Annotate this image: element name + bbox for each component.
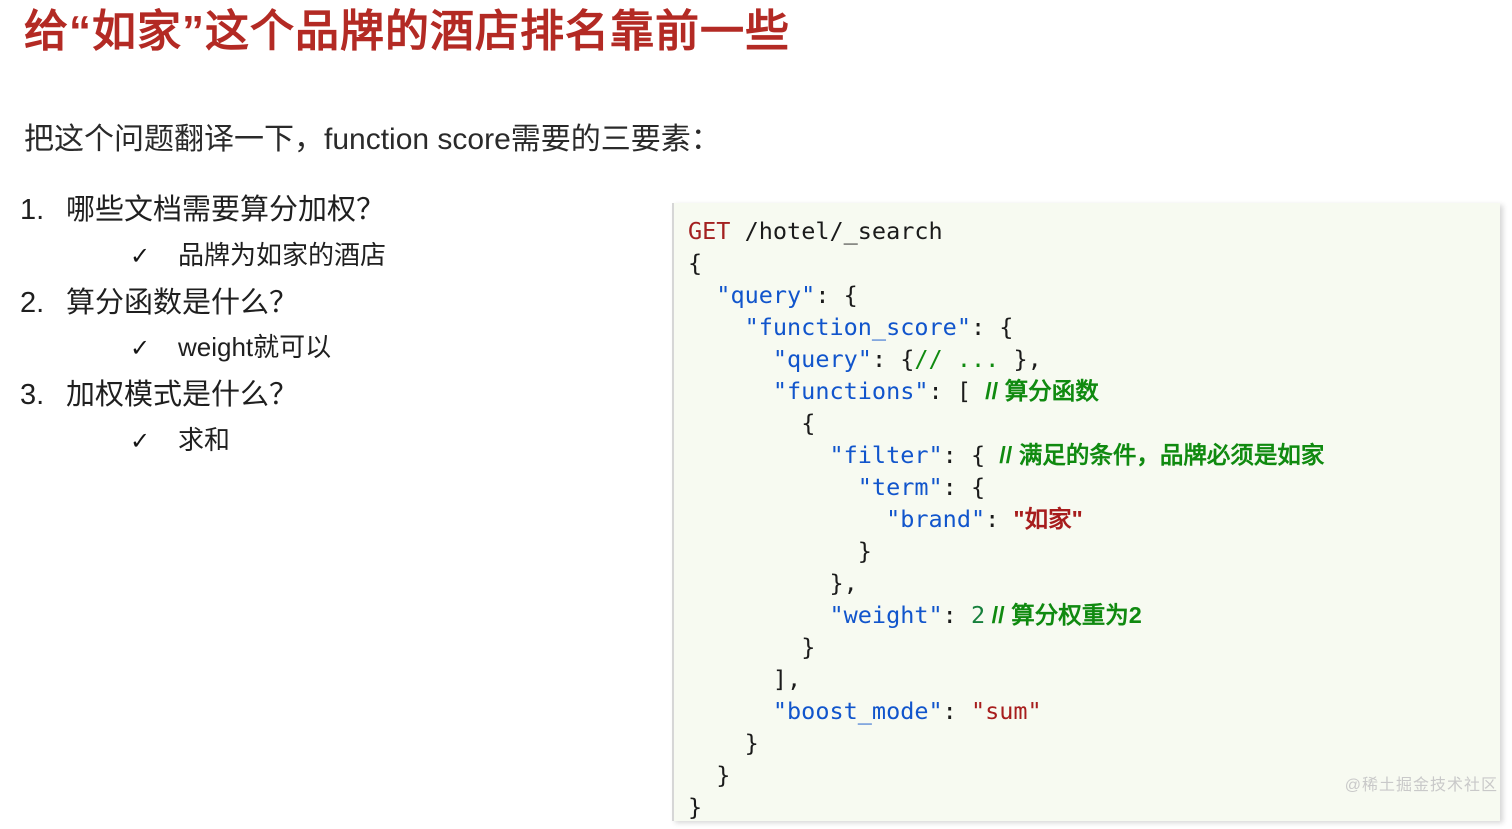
page-title: 给“如家”这个品牌的酒店排名靠前一些 [24, 4, 790, 60]
code-line: "functions": [ // 算分函数 [688, 375, 1500, 407]
code-token-indent [688, 281, 716, 309]
list-number: 1. [20, 188, 66, 233]
code-token-indent [688, 665, 773, 693]
code-token-comment: // ... [914, 345, 1013, 373]
code-line: } [688, 727, 1500, 759]
code-token-comment-cn: // 算分权重为2 [985, 602, 1142, 628]
code-line: }, [688, 567, 1500, 599]
code-token-punct2: }, [1013, 345, 1041, 373]
code-token-indent [688, 569, 829, 597]
code-token-punct: : { [943, 473, 985, 501]
code-token-key: "functions" [773, 377, 929, 405]
code-token-indent [688, 313, 745, 341]
code-token-punct: : { [872, 345, 914, 373]
code-token-punct: } [745, 729, 759, 757]
code-token-indent [688, 409, 801, 437]
code-token-indent [688, 761, 716, 789]
code-line: "brand": "如家" [688, 503, 1500, 535]
code-line: GET /hotel/_search [688, 215, 1500, 247]
question-row: 1. 哪些文档需要算分加权？ [20, 188, 620, 233]
code-token-key: "boost_mode" [773, 697, 943, 725]
code-line: "query": { [688, 279, 1500, 311]
code-token-indent [688, 473, 858, 501]
code-panel: GET /hotel/_search{ "query": { "function… [672, 203, 1500, 821]
code-token-indent [688, 505, 886, 533]
code-token-key: "brand" [886, 505, 985, 533]
code-line: "filter": { // 满足的条件，品牌必须是如家 [688, 439, 1500, 471]
code-line: "function_score": { [688, 311, 1500, 343]
answer-text: 品牌为如家的酒店 [178, 235, 386, 277]
code-token-key: "term" [858, 473, 943, 501]
code-token-punct: { [688, 249, 702, 277]
code-token-number: 2 [971, 601, 985, 629]
watermark: @稀土掘金技术社区 [1345, 771, 1498, 795]
code-token-indent [688, 537, 858, 565]
code-token-punct: : { [971, 313, 1013, 341]
question-row: 2. 算分函数是什么？ [20, 281, 620, 326]
list-number: 2. [20, 281, 66, 326]
code-token-comment-cn: // 算分函数 [985, 378, 1099, 404]
question-list: 1. 哪些文档需要算分加权？ ✓ 品牌为如家的酒店 2. 算分函数是什么？ ✓ … [20, 188, 620, 466]
code-token-key: "function_score" [745, 313, 971, 341]
answer-row: ✓ 求和 [130, 420, 620, 462]
lead-paragraph: 把这个问题翻译一下，function score需要的三要素： [24, 120, 721, 159]
answer-text: weight就可以 [178, 327, 331, 369]
code-token-punct: ], [773, 665, 801, 693]
answer-text: 求和 [178, 420, 230, 462]
code-token-key: "weight" [829, 601, 942, 629]
code-token-punct: : [943, 601, 971, 629]
code-token-method: GET [688, 217, 730, 245]
list-item: 1. 哪些文档需要算分加权？ ✓ 品牌为如家的酒店 [20, 188, 620, 277]
list-item: 3. 加权模式是什么？ ✓ 求和 [20, 373, 620, 462]
code-token-punct: : { [815, 281, 857, 309]
code-line: { [688, 247, 1500, 279]
code-token-indent [688, 697, 773, 725]
code-line: "boost_mode": "sum" [688, 695, 1500, 727]
code-line: { [688, 407, 1500, 439]
code-token-punct: } [801, 633, 815, 661]
code-token-punct: : { [943, 441, 1000, 469]
code-line: "query": {// ... }, [688, 343, 1500, 375]
code-line: } [688, 631, 1500, 663]
code-line: ], [688, 663, 1500, 695]
answer-row: ✓ weight就可以 [130, 327, 620, 369]
code-block[interactable]: GET /hotel/_search{ "query": { "function… [674, 203, 1500, 821]
code-token-string: "sum" [971, 697, 1042, 725]
code-token-punct: : [ [929, 377, 986, 405]
code-token-key: "query" [773, 345, 872, 373]
code-token-punct: } [688, 793, 702, 821]
code-token-punct: } [716, 761, 730, 789]
code-token-string-cn: "如家" [1013, 506, 1082, 532]
code-token-comment-cn: // 满足的条件，品牌必须是如家 [999, 442, 1324, 468]
code-line: } [688, 535, 1500, 567]
list-item: 2. 算分函数是什么？ ✓ weight就可以 [20, 281, 620, 370]
code-token-key: "query" [716, 281, 815, 309]
code-line: "weight": 2 // 算分权重为2 [688, 599, 1500, 631]
code-token-indent [688, 441, 829, 469]
code-token-indent [688, 345, 773, 373]
code-token-indent [688, 377, 773, 405]
code-token-indent [688, 729, 745, 757]
code-token-indent [688, 601, 829, 629]
code-token-punct: { [801, 409, 815, 437]
code-token-punct: : [943, 697, 971, 725]
code-token-punct: : [985, 505, 1013, 533]
question-text: 哪些文档需要算分加权？ [66, 188, 385, 233]
answer-row: ✓ 品牌为如家的酒店 [130, 235, 620, 277]
code-token-punct: }, [829, 569, 857, 597]
check-icon: ✓ [130, 423, 178, 461]
list-number: 3. [20, 373, 66, 418]
question-text: 算分函数是什么？ [66, 281, 298, 326]
code-token-indent [688, 633, 801, 661]
question-row: 3. 加权模式是什么？ [20, 373, 620, 418]
code-line: "term": { [688, 471, 1500, 503]
code-token-key: "filter" [829, 441, 942, 469]
code-line: } [688, 791, 1500, 821]
code-token-path: /hotel/_search [730, 217, 942, 245]
check-icon: ✓ [130, 330, 178, 368]
check-icon: ✓ [130, 238, 178, 276]
code-token-punct: } [858, 537, 872, 565]
question-text: 加权模式是什么？ [66, 373, 298, 418]
